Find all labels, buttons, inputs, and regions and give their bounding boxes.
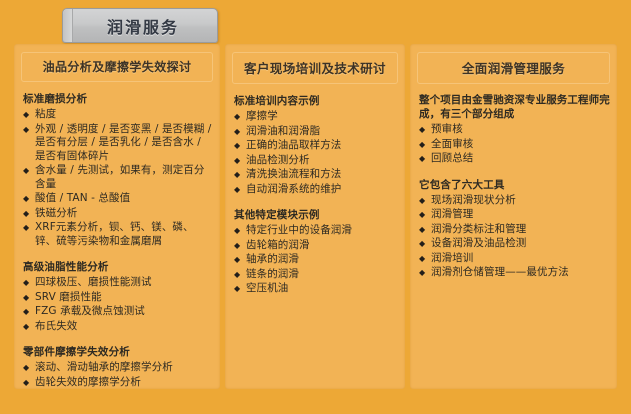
diamond-bullet-icon: ◆ bbox=[419, 266, 431, 280]
section: 零部件摩擦学失效分析◆滚动、滑动轴承的摩擦学分析◆齿轮失效的摩擦学分析◆链条失效… bbox=[23, 344, 214, 389]
list-item[interactable]: ◆回顾总结 bbox=[419, 152, 611, 166]
diamond-bullet-icon: ◆ bbox=[23, 221, 35, 235]
list-item[interactable]: ◆设备润滑及油品检测 bbox=[419, 237, 611, 251]
list-item-label: 含水量 / 先测试，如果有，测定百分含量 bbox=[35, 164, 214, 191]
diamond-bullet-icon: ◆ bbox=[23, 164, 35, 178]
panel-intro: 整个项目由金雪驰资深专业服务工程师完成，有三个部分组成 bbox=[419, 93, 611, 121]
diamond-bullet-icon: ◆ bbox=[234, 139, 246, 153]
list-item[interactable]: ◆摩擦学 bbox=[234, 110, 399, 124]
list-item-label: 润滑油和润滑脂 bbox=[246, 125, 399, 139]
list-item[interactable]: ◆XRF元素分析，钡、钙、镁、磷、锌、硫等污染物和金属磨屑 bbox=[23, 221, 214, 248]
panel-title: 全面润滑管理服务 bbox=[417, 52, 610, 84]
list-item[interactable]: ◆空压机油 bbox=[234, 282, 399, 296]
tab-bar: 润滑服务 bbox=[0, 0, 631, 44]
section-heading: 零部件摩擦学失效分析 bbox=[23, 344, 214, 359]
diamond-bullet-icon: ◆ bbox=[419, 252, 431, 266]
bullet-list: ◆现场润滑现状分析◆润滑管理◆润滑分类标注和管理◆设备润滑及油品检测◆润滑培训◆… bbox=[419, 194, 611, 280]
diamond-bullet-icon: ◆ bbox=[23, 305, 35, 319]
diamond-bullet-icon: ◆ bbox=[234, 253, 246, 267]
service-panel-3: 全面润滑管理服务整个项目由金雪驰资深专业服务工程师完成，有三个部分组成◆预审核◆… bbox=[410, 44, 617, 389]
tab-lubrication-service[interactable]: 润滑服务 bbox=[62, 8, 218, 43]
list-item-label: 润滑培训 bbox=[431, 252, 611, 266]
diamond-bullet-icon: ◆ bbox=[234, 183, 246, 197]
list-item-label: 预审核 bbox=[431, 123, 611, 137]
diamond-bullet-icon: ◆ bbox=[234, 168, 246, 182]
section-spacer bbox=[20, 250, 214, 259]
list-item[interactable]: ◆含水量 / 先测试，如果有，测定百分含量 bbox=[23, 164, 214, 191]
section-heading: 其他特定模块示例 bbox=[234, 207, 399, 222]
list-item-label: 全面审核 bbox=[431, 138, 611, 152]
list-item[interactable]: ◆现场润滑现状分析 bbox=[419, 194, 611, 208]
list-item[interactable]: ◆粘度 bbox=[23, 108, 214, 122]
list-item[interactable]: ◆链条的润滑 bbox=[234, 268, 399, 282]
list-item-label: 四球极压、磨损性能测试 bbox=[35, 276, 214, 290]
list-item-label: 自动润滑系统的维护 bbox=[246, 183, 399, 197]
list-item[interactable]: ◆布氏失效 bbox=[23, 320, 214, 334]
section: 其他特定模块示例◆特定行业中的设备润滑◆齿轮箱的润滑◆轴承的润滑◆链条的润滑◆空… bbox=[234, 207, 399, 296]
drag-grip-icon bbox=[63, 9, 73, 42]
list-item[interactable]: ◆润滑培训 bbox=[419, 252, 611, 266]
section-heading: 标准磨损分析 bbox=[23, 91, 214, 106]
list-item[interactable]: ◆自动润滑系统的维护 bbox=[234, 183, 399, 197]
section: 高级油脂性能分析◆四球极压、磨损性能测试◆SRV 磨损性能◆FZG 承载及微点蚀… bbox=[23, 259, 214, 333]
bullet-list: ◆预审核◆全面审核◆回顾总结 bbox=[419, 123, 611, 166]
list-item-label: 润滑剂仓储管理——最优方法 bbox=[431, 266, 611, 280]
list-item-label: XRF元素分析，钡、钙、镁、磷、锌、硫等污染物和金属磨屑 bbox=[35, 221, 214, 248]
list-item-label: 链条的润滑 bbox=[246, 268, 399, 282]
list-item-label: 润滑分类标注和管理 bbox=[431, 223, 611, 237]
diamond-bullet-icon: ◆ bbox=[23, 192, 35, 206]
diamond-bullet-icon: ◆ bbox=[23, 123, 35, 137]
bullet-list: ◆四球极压、磨损性能测试◆SRV 磨损性能◆FZG 承载及微点蚀测试◆布氏失效 bbox=[23, 276, 214, 333]
section-spacer bbox=[231, 198, 399, 207]
section: ◆预审核◆全面审核◆回顾总结 bbox=[419, 123, 611, 166]
diamond-bullet-icon: ◆ bbox=[23, 361, 35, 375]
list-item[interactable]: ◆润滑油和润滑脂 bbox=[234, 125, 399, 139]
section: 标准磨损分析◆粘度◆外观 / 透明度 / 是否变黑 / 是否模糊 / 是否有分层… bbox=[23, 91, 214, 248]
diamond-bullet-icon: ◆ bbox=[23, 108, 35, 122]
diamond-bullet-icon: ◆ bbox=[234, 239, 246, 253]
section-heading: 标准培训内容示例 bbox=[234, 93, 399, 108]
diamond-bullet-icon: ◆ bbox=[234, 110, 246, 124]
diamond-bullet-icon: ◆ bbox=[234, 268, 246, 282]
list-item[interactable]: ◆滚动、滑动轴承的摩擦学分析 bbox=[23, 361, 214, 375]
list-item[interactable]: ◆油品检测分析 bbox=[234, 154, 399, 168]
list-item[interactable]: ◆全面审核 bbox=[419, 138, 611, 152]
list-item-label: 酸值 / TAN - 总酸值 bbox=[35, 192, 214, 206]
list-item-label: 外观 / 透明度 / 是否变黑 / 是否模糊 / 是否有分层 / 是否乳化 / … bbox=[35, 123, 214, 164]
bullet-list: ◆滚动、滑动轴承的摩擦学分析◆齿轮失效的摩擦学分析◆链条失效的摩擦学分析 bbox=[23, 361, 214, 389]
section-spacer bbox=[416, 168, 611, 177]
list-item[interactable]: ◆酸值 / TAN - 总酸值 bbox=[23, 192, 214, 206]
list-item-label: 现场润滑现状分析 bbox=[431, 194, 611, 208]
diamond-bullet-icon: ◆ bbox=[419, 208, 431, 222]
diamond-bullet-icon: ◆ bbox=[234, 154, 246, 168]
list-item-label: 清洗换油流程和方法 bbox=[246, 168, 399, 182]
list-item-label: 设备润滑及油品检测 bbox=[431, 237, 611, 251]
diamond-bullet-icon: ◆ bbox=[419, 194, 431, 208]
list-item-label: 特定行业中的设备润滑 bbox=[246, 224, 399, 238]
diamond-bullet-icon: ◆ bbox=[23, 291, 35, 305]
list-item[interactable]: ◆SRV 磨损性能 bbox=[23, 291, 214, 305]
service-panel-1: 油品分析及摩擦学失效探讨标准磨损分析◆粘度◆外观 / 透明度 / 是否变黑 / … bbox=[14, 44, 220, 389]
diamond-bullet-icon: ◆ bbox=[234, 224, 246, 238]
list-item-label: 轴承的润滑 bbox=[246, 253, 399, 267]
list-item[interactable]: ◆清洗换油流程和方法 bbox=[234, 168, 399, 182]
list-item-label: 粘度 bbox=[35, 108, 214, 122]
list-item-label: 空压机油 bbox=[246, 282, 399, 296]
list-item[interactable]: ◆正确的油品取样方法 bbox=[234, 139, 399, 153]
diamond-bullet-icon: ◆ bbox=[23, 320, 35, 334]
list-item[interactable]: ◆齿轮失效的摩擦学分析 bbox=[23, 376, 214, 390]
list-item[interactable]: ◆轴承的润滑 bbox=[234, 253, 399, 267]
list-item[interactable]: ◆齿轮箱的润滑 bbox=[234, 239, 399, 253]
diamond-bullet-icon: ◆ bbox=[419, 138, 431, 152]
bullet-list: ◆特定行业中的设备润滑◆齿轮箱的润滑◆轴承的润滑◆链条的润滑◆空压机油 bbox=[234, 224, 399, 296]
list-item-label: 滚动、滑动轴承的摩擦学分析 bbox=[35, 361, 214, 375]
list-item-label: 布氏失效 bbox=[35, 320, 214, 334]
diamond-bullet-icon: ◆ bbox=[234, 125, 246, 139]
list-item[interactable]: ◆润滑剂仓储管理——最优方法 bbox=[419, 266, 611, 280]
bullet-list: ◆摩擦学◆润滑油和润滑脂◆正确的油品取样方法◆油品检测分析◆清洗换油流程和方法◆… bbox=[234, 110, 399, 196]
list-item[interactable]: ◆润滑分类标注和管理 bbox=[419, 223, 611, 237]
list-item-label: 油品检测分析 bbox=[246, 154, 399, 168]
list-item-label: 铁磁分析 bbox=[35, 207, 214, 221]
panel-title: 客户现场培训及技术研讨 bbox=[232, 52, 398, 84]
list-item-label: 润滑管理 bbox=[431, 208, 611, 222]
service-columns: 油品分析及摩擦学失效探讨标准磨损分析◆粘度◆外观 / 透明度 / 是否变黑 / … bbox=[0, 44, 631, 389]
list-item[interactable]: ◆四球极压、磨损性能测试 bbox=[23, 276, 214, 290]
diamond-bullet-icon: ◆ bbox=[23, 376, 35, 390]
list-item-label: 摩擦学 bbox=[246, 110, 399, 124]
section-spacer bbox=[20, 335, 214, 344]
list-item[interactable]: ◆FZG 承载及微点蚀测试 bbox=[23, 305, 214, 319]
list-item[interactable]: ◆外观 / 透明度 / 是否变黑 / 是否模糊 / 是否有分层 / 是否乳化 /… bbox=[23, 123, 214, 164]
section: 它包含了六大工具◆现场润滑现状分析◆润滑管理◆润滑分类标注和管理◆设备润滑及油品… bbox=[419, 177, 611, 280]
section-heading: 高级油脂性能分析 bbox=[23, 259, 214, 274]
bullet-list: ◆粘度◆外观 / 透明度 / 是否变黑 / 是否模糊 / 是否有分层 / 是否乳… bbox=[23, 108, 214, 248]
section: 标准培训内容示例◆摩擦学◆润滑油和润滑脂◆正确的油品取样方法◆油品检测分析◆清洗… bbox=[234, 93, 399, 196]
list-item-label: FZG 承载及微点蚀测试 bbox=[35, 305, 214, 319]
list-item-label: 齿轮箱的润滑 bbox=[246, 239, 399, 253]
list-item-label: 回顾总结 bbox=[431, 152, 611, 166]
panel-title: 油品分析及摩擦学失效探讨 bbox=[21, 52, 213, 82]
diamond-bullet-icon: ◆ bbox=[419, 152, 431, 166]
section-heading: 它包含了六大工具 bbox=[419, 177, 611, 192]
diamond-bullet-icon: ◆ bbox=[234, 282, 246, 296]
service-panel-2: 客户现场培训及技术研讨标准培训内容示例◆摩擦学◆润滑油和润滑脂◆正确的油品取样方… bbox=[225, 44, 405, 389]
diamond-bullet-icon: ◆ bbox=[23, 207, 35, 221]
list-item[interactable]: ◆特定行业中的设备润滑 bbox=[234, 224, 399, 238]
tab-label: 润滑服务 bbox=[101, 14, 179, 38]
list-item[interactable]: ◆预审核 bbox=[419, 123, 611, 137]
diamond-bullet-icon: ◆ bbox=[419, 223, 431, 237]
list-item-label: 正确的油品取样方法 bbox=[246, 139, 399, 153]
list-item-label: 齿轮失效的摩擦学分析 bbox=[35, 376, 214, 390]
diamond-bullet-icon: ◆ bbox=[23, 276, 35, 290]
list-item[interactable]: ◆润滑管理 bbox=[419, 208, 611, 222]
list-item-label: SRV 磨损性能 bbox=[35, 291, 214, 305]
diamond-bullet-icon: ◆ bbox=[419, 123, 431, 137]
list-item[interactable]: ◆铁磁分析 bbox=[23, 207, 214, 221]
diamond-bullet-icon: ◆ bbox=[419, 237, 431, 251]
